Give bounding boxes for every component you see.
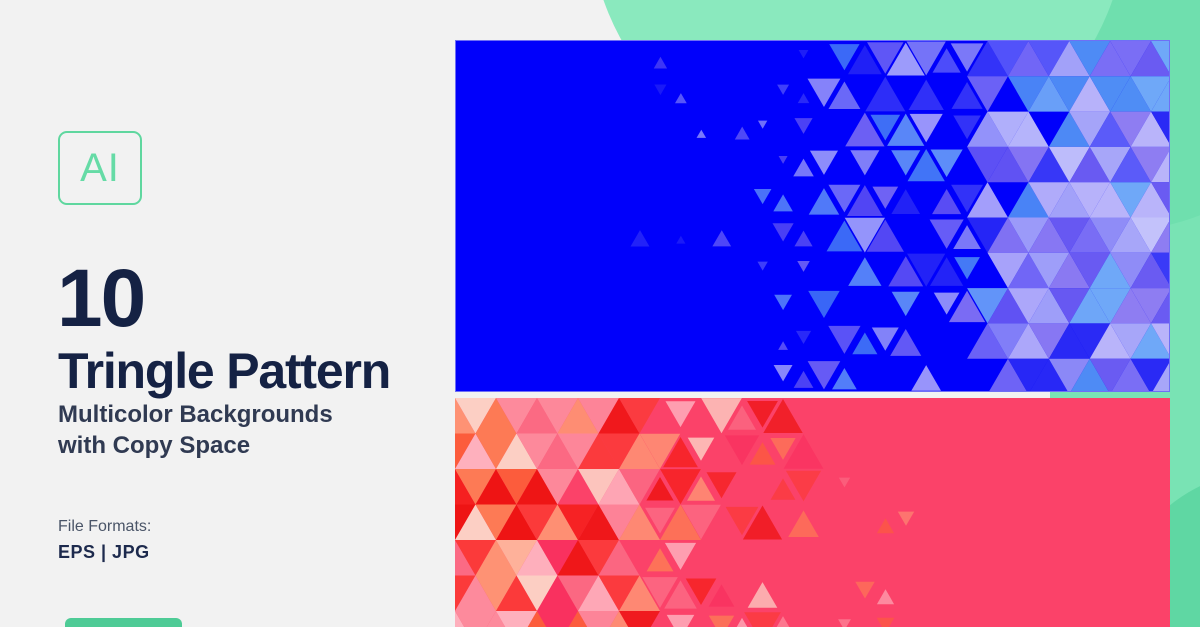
file-formats-label: File Formats:: [58, 518, 151, 536]
preview-blue-triangle-pattern: [455, 40, 1170, 392]
blue-triangle-mesh: [456, 41, 1169, 391]
subtitle-line-1: Multicolor Backgrounds: [58, 400, 333, 431]
info-column: AI 10 Tringle Pattern Multicolor Backgro…: [0, 0, 455, 627]
item-count: 10: [57, 258, 144, 340]
pink-triangle-mesh: [455, 398, 1170, 627]
preview-pink-triangle-pattern: [455, 398, 1170, 627]
page-subtitle: Multicolor Backgrounds with Copy Space: [58, 400, 333, 461]
page-title: Tringle Pattern: [58, 346, 390, 396]
poster-canvas: AI 10 Tringle Pattern Multicolor Backgro…: [0, 0, 1200, 627]
subtitle-line-2: with Copy Space: [58, 431, 333, 462]
file-formats-value: EPS | JPG: [58, 542, 150, 563]
ai-badge-label: AI: [80, 148, 120, 188]
ai-file-badge: AI: [58, 131, 142, 205]
cta-button[interactable]: [65, 618, 182, 627]
